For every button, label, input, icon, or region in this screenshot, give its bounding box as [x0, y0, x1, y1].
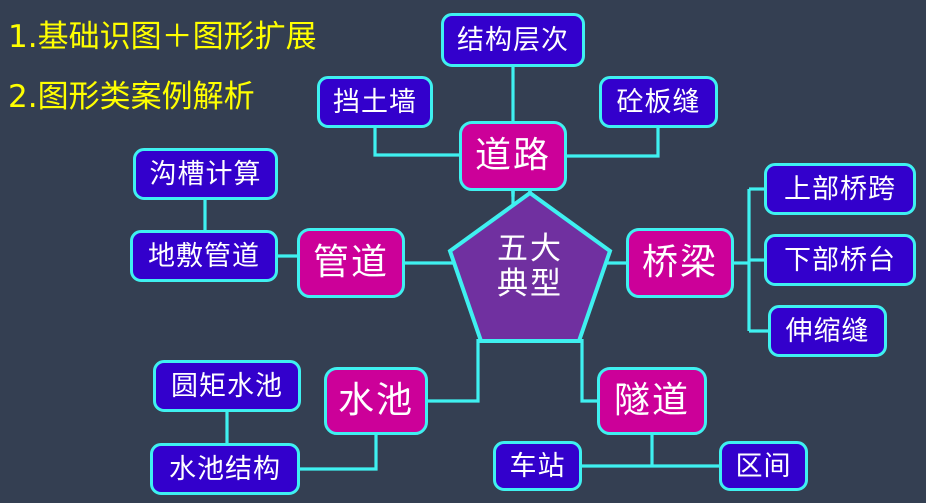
sub-node-retaining-wall[interactable]: 挡土墙: [317, 76, 433, 128]
sub-node-interval[interactable]: 区间: [719, 441, 808, 491]
sub-node-round-rect-pool[interactable]: 圆矩水池: [153, 360, 301, 412]
main-node-pipe[interactable]: 管道: [297, 228, 405, 298]
headline-2: 2.图形类案例解析: [8, 82, 255, 113]
headline-1: 1.基础识图＋图形扩展: [8, 22, 317, 53]
sub-node-buried-pipe[interactable]: 地敷管道: [130, 230, 278, 282]
sub-node-upper-span[interactable]: 上部桥跨: [764, 163, 916, 215]
sub-node-station[interactable]: 车站: [493, 441, 582, 491]
main-node-pool[interactable]: 水池: [324, 367, 428, 435]
mindmap-canvas: 五大 典型 1.基础识图＋图形扩展 2.图形类案例解析 道路 管道 桥梁 水池 …: [0, 0, 926, 503]
center-pentagon[interactable]: [446, 189, 614, 345]
sub-node-expansion-joint[interactable]: 伸缩缝: [768, 305, 887, 357]
sub-node-lower-abutment[interactable]: 下部桥台: [764, 234, 916, 286]
main-node-bridge[interactable]: 桥梁: [626, 228, 734, 298]
sub-node-structure-layer[interactable]: 结构层次: [441, 13, 585, 67]
main-node-tunnel[interactable]: 隧道: [597, 367, 707, 435]
sub-node-concrete-joint[interactable]: 砼板缝: [599, 76, 718, 128]
main-node-road[interactable]: 道路: [459, 121, 567, 191]
sub-node-pool-structure[interactable]: 水池结构: [150, 443, 300, 495]
sub-node-trench-calc[interactable]: 沟槽计算: [133, 148, 278, 200]
